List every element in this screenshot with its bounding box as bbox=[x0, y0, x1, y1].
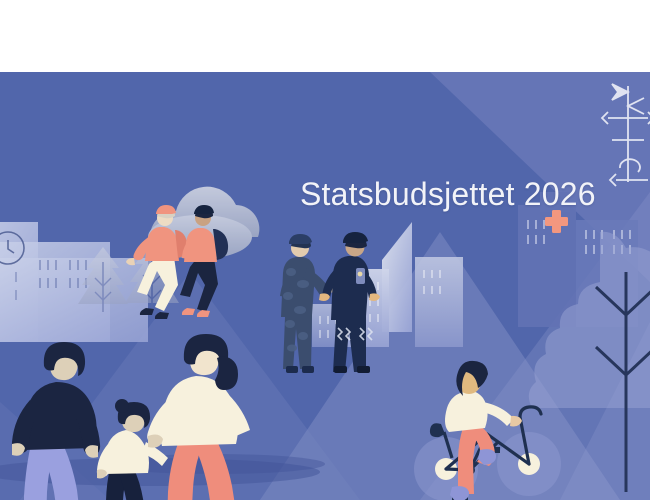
scene-svg bbox=[0, 72, 650, 500]
page-root: Statsbudsjettet 2026 bbox=[0, 0, 650, 500]
hero-illustration: Statsbudsjettet 2026 bbox=[0, 72, 650, 500]
top-white-band bbox=[0, 0, 650, 72]
